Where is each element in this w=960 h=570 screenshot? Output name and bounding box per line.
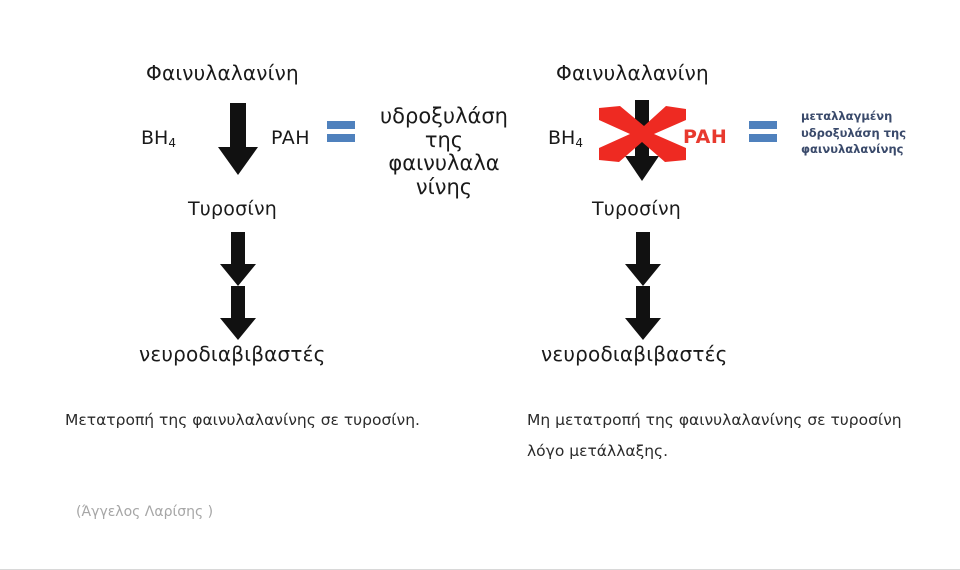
cofactor-bh4-label: BH <box>141 127 168 149</box>
panel-mutated: Φαινυλαλανίνη BH4 PAH μ <box>520 0 960 400</box>
equals-bar-bottom <box>749 134 777 142</box>
enzyme-pah-mutated: PAH <box>683 126 727 148</box>
enzyme-expansion-normal: υδροξυλάση της φαινυλαλα νίνης <box>368 105 520 199</box>
expansion-line: φαινυλαλανίνης <box>801 141 956 158</box>
expansion-line: υδροξυλάση της <box>801 125 956 142</box>
node-tyrosine-normal: Τυροσίνη <box>188 198 277 220</box>
expansion-line: υδροξυλάση <box>368 105 520 129</box>
equals-icon-mutated <box>749 121 777 142</box>
figure-canvas: Φαινυλαλανίνη BH4 PAH υδροξυλάση της φαι… <box>0 0 960 570</box>
equals-icon-normal <box>327 121 355 142</box>
cofactor-bh4-mutated: BH4 <box>548 127 583 149</box>
node-tyrosine-mutated: Τυροσίνη <box>592 198 681 220</box>
node-neurotransmitters-normal: νευροδιαβιβαστές <box>139 342 326 366</box>
arrow-tyr-step2-normal <box>219 286 257 341</box>
caption-line: Μετατροπή της φαινυλαλανίνης σε τυροσίνη… <box>65 405 505 436</box>
node-phenylalanine-normal: Φαινυλαλανίνη <box>146 61 299 85</box>
credit-attribution: (Άγγελος Λαρίσης ) <box>76 504 213 520</box>
caption-normal: Μετατροπή της φαινυλαλανίνης σε τυροσίνη… <box>65 405 505 436</box>
cofactor-bh4-subscript: 4 <box>168 136 176 150</box>
expansion-line: φαινυλαλα <box>368 152 520 176</box>
panel-normal: Φαινυλαλανίνη BH4 PAH υδροξυλάση της φαι… <box>0 0 520 400</box>
caption-mutated: Μη μετατροπή της φαινυλαλανίνης σε τυροσ… <box>527 405 927 467</box>
enzyme-expansion-mutated: μεταλλαγμένη υδροξυλάση της φαινυλαλανίν… <box>801 108 956 158</box>
cofactor-bh4-normal: BH4 <box>141 127 176 149</box>
caption-line: λόγο μετάλλαξης. <box>527 436 927 467</box>
equals-bar-bottom <box>327 134 355 142</box>
arrow-tyr-step1-normal <box>219 232 257 287</box>
node-phenylalanine-mutated: Φαινυλαλανίνη <box>556 61 709 85</box>
enzyme-pah-normal: PAH <box>271 127 310 149</box>
equals-bar-top <box>327 121 355 129</box>
cofactor-bh4-label: BH <box>548 127 575 149</box>
arrow-phe-to-tyr-normal <box>217 103 259 176</box>
arrow-tyr-step2-mutated <box>624 286 662 341</box>
arrow-tyr-step1-mutated <box>624 232 662 287</box>
expansion-line: νίνης <box>368 176 520 200</box>
blocked-x-icon-mutated <box>596 106 688 162</box>
caption-line: Μη μετατροπή της φαινυλαλανίνης σε τυροσ… <box>527 405 927 436</box>
expansion-line: της <box>368 129 520 153</box>
node-neurotransmitters-mutated: νευροδιαβιβαστές <box>541 342 728 366</box>
equals-bar-top <box>749 121 777 129</box>
cofactor-bh4-subscript: 4 <box>575 136 583 150</box>
expansion-line: μεταλλαγμένη <box>801 108 956 125</box>
